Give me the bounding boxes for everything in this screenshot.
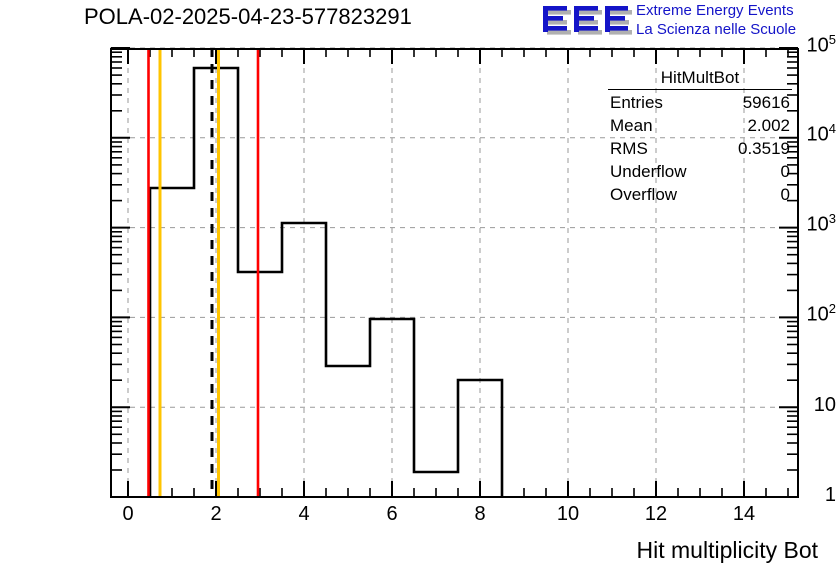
stats-key-rms: RMS xyxy=(610,137,648,160)
stats-row-overflow: Overflow 0 xyxy=(608,183,792,206)
x-ticklabel-14: 14 xyxy=(733,503,755,526)
x-ticklabel-10: 10 xyxy=(557,503,579,526)
x-ticklabel-8: 8 xyxy=(474,503,485,526)
stats-value-rms: 0.3519 xyxy=(738,137,790,160)
y-ticklabel-1e3: 103 xyxy=(732,211,836,237)
stats-box: HitMultBot Entries 59616 Mean 2.002 RMS … xyxy=(608,68,792,206)
stats-value-entries: 59616 xyxy=(743,91,790,114)
y-ticklabel-1e2: 102 xyxy=(732,301,836,327)
x-ticklabel-6: 6 xyxy=(386,503,397,526)
x-ticklabel-2: 2 xyxy=(210,503,221,526)
stats-value-mean: 2.002 xyxy=(747,114,790,137)
x-ticklabel-4: 4 xyxy=(298,503,309,526)
y-axis-ticks xyxy=(111,48,130,497)
stats-value-underflow: 0 xyxy=(781,160,790,183)
y-ticklabel-1e5: 105 xyxy=(732,32,836,58)
root-canvas: POLA-02-2025-04-23-577823291 xyxy=(0,0,836,572)
x-axis-minor-ticks-top xyxy=(150,49,788,57)
x-ticklabel-0: 0 xyxy=(122,503,133,526)
stats-key-underflow: Underflow xyxy=(610,160,687,183)
x-axis-minor-ticks xyxy=(150,488,788,496)
x-ticklabel-12: 12 xyxy=(645,503,667,526)
stats-key-entries: Entries xyxy=(610,91,663,114)
x-axis-title: Hit multiplicity Bot xyxy=(637,537,818,564)
stats-row-underflow: Underflow 0 xyxy=(608,160,792,183)
stats-title: HitMultBot xyxy=(608,68,792,90)
stats-key-overflow: Overflow xyxy=(610,183,677,206)
stats-row-entries: Entries 59616 xyxy=(608,91,792,114)
stats-key-mean: Mean xyxy=(610,114,653,137)
histogram-outline xyxy=(150,68,502,497)
stats-row-rms: RMS 0.3519 xyxy=(608,137,792,160)
stats-row-mean: Mean 2.002 xyxy=(608,114,792,137)
stats-value-overflow: 0 xyxy=(781,183,790,206)
y-ticklabel-10: 10 xyxy=(732,394,836,417)
